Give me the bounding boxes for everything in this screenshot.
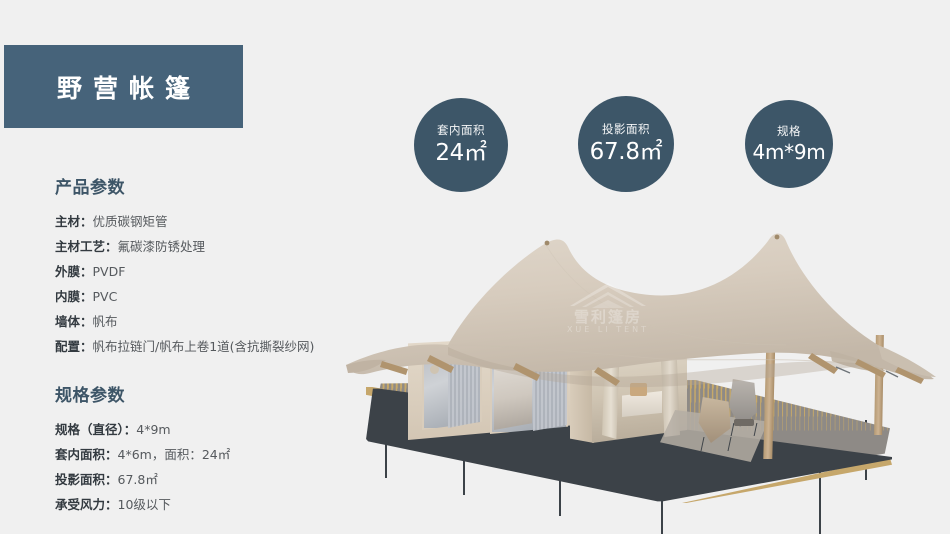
spec-label: 内膜： (55, 289, 93, 304)
stat-badge-interior-area: 套内面积 24㎡ (414, 98, 508, 192)
spec-label: 承受风力： (55, 497, 118, 512)
product-spec-page: 野营帐篷 产品参数 主材：优质碳钢矩管 主材工艺：氟碳漆防锈处理 外膜：PVDF… (0, 0, 950, 534)
stat-value: 24㎡ (435, 142, 486, 165)
spec-row: 内膜：PVC (55, 284, 314, 309)
spec-section-specification: 规格参数 规格（直径）：4*9m 套内面积：4*6m，面积：24㎡ 投影面积：6… (55, 381, 230, 517)
spec-value: 67.8㎡ (118, 472, 158, 487)
spec-label: 墙体： (55, 314, 93, 329)
spec-row: 配置：帆布拉链门/帆布上卷1道(含抗撕裂纱网) (55, 334, 314, 359)
spec-value: PVC (93, 289, 118, 304)
tent-canopy (330, 195, 950, 534)
page-title-banner: 野营帐篷 (4, 45, 243, 128)
page-title: 野营帐篷 (46, 69, 201, 105)
spec-value: 4*9m (136, 422, 170, 437)
spec-value: 4*6m，面积：24㎡ (118, 447, 231, 462)
spec-value: 帆布 (93, 314, 118, 329)
stat-value: 67.8㎡ (590, 141, 663, 164)
spec-row: 承受风力：10级以下 (55, 492, 230, 517)
spec-value: 氟碳漆防锈处理 (118, 239, 206, 254)
spec-label: 套内面积： (55, 447, 118, 462)
stat-label: 投影面积 (602, 124, 650, 136)
spec-section-heading: 规格参数 (55, 381, 230, 406)
spec-label: 配置： (55, 339, 93, 354)
stat-badge-projected-area: 投影面积 67.8㎡ (578, 96, 674, 192)
spec-label: 主材工艺： (55, 239, 118, 254)
stat-label: 套内面积 (437, 125, 485, 137)
spec-row: 主材：优质碳钢矩管 (55, 209, 314, 234)
product-image-tent-render: 雪利篷房 XUE LI TENT (330, 195, 950, 534)
spec-value: 帆布拉链门/帆布上卷1道(含抗撕裂纱网) (93, 339, 315, 354)
spec-label: 投影面积： (55, 472, 118, 487)
spec-row: 规格（直径）：4*9m (55, 417, 230, 442)
spec-value: 优质碳钢矩管 (93, 214, 168, 229)
stat-label: 规格 (777, 126, 801, 138)
stat-badge-dimensions: 规格 4m*9m (745, 100, 833, 188)
spec-label: 主材： (55, 214, 93, 229)
spec-row: 外膜：PVDF (55, 259, 314, 284)
spec-section-product: 产品参数 主材：优质碳钢矩管 主材工艺：氟碳漆防锈处理 外膜：PVDF 内膜：P… (55, 173, 314, 359)
stat-value: 4m*9m (753, 142, 826, 162)
spec-label: 规格（直径）： (55, 422, 136, 437)
spec-value: 10级以下 (118, 497, 171, 512)
spec-value: PVDF (93, 264, 126, 279)
spec-label: 外膜： (55, 264, 93, 279)
spec-row: 投影面积：67.8㎡ (55, 467, 230, 492)
spec-section-heading: 产品参数 (55, 173, 314, 198)
spec-row: 套内面积：4*6m，面积：24㎡ (55, 442, 230, 467)
spec-row: 主材工艺：氟碳漆防锈处理 (55, 234, 314, 259)
spec-row: 墙体：帆布 (55, 309, 314, 334)
